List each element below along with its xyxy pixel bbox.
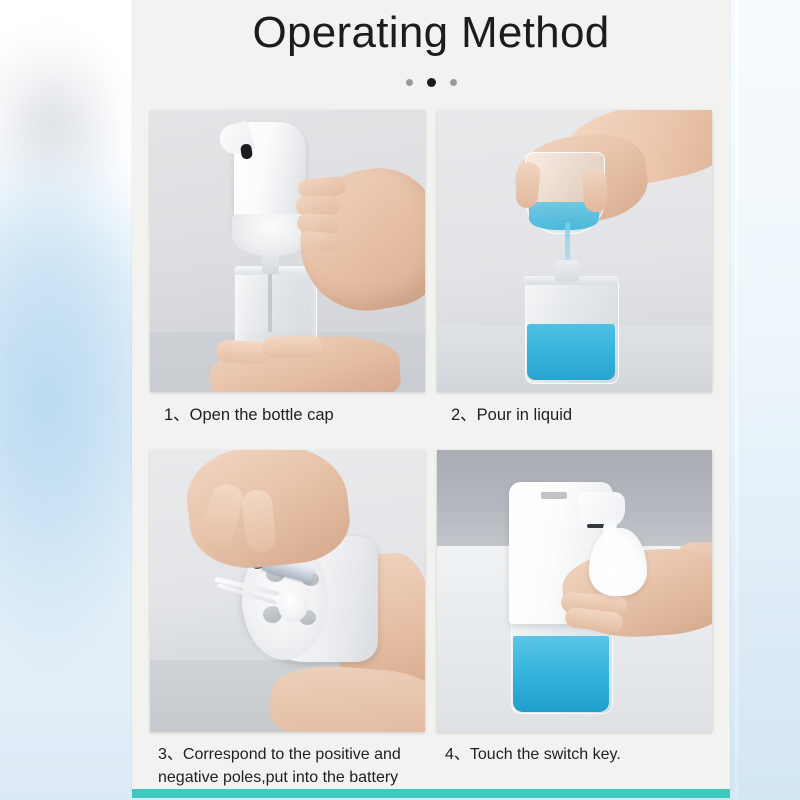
step-3-caption: 3、Correspond to the positive and negativ…	[150, 732, 425, 790]
step-4-photo	[437, 450, 712, 732]
photo-2-finger-2	[581, 167, 608, 213]
step-item-4: 4、Touch the switch key.	[437, 450, 712, 790]
photo-2-bottle-liquid	[527, 324, 615, 380]
content-card: Operating Method	[132, 0, 730, 789]
page-title: Operating Method	[132, 8, 730, 58]
step-2-caption: 2、Pour in liquid	[437, 392, 712, 450]
carousel-dot-2[interactable]	[427, 78, 436, 87]
step-1-photo	[150, 110, 425, 392]
carousel-dot-3[interactable]	[450, 79, 457, 86]
photo-3-supporting-hand	[268, 662, 425, 732]
photo-4-foam-tip	[603, 518, 617, 542]
photo-4-foam-blob	[589, 528, 647, 596]
step-item-1: 1、Open the bottle cap	[150, 110, 425, 450]
step-2-photo	[437, 110, 712, 392]
carousel-dots[interactable]	[132, 78, 730, 87]
photo-1-pump-tube	[268, 270, 272, 332]
photo-3-center-hub	[278, 588, 308, 622]
step-item-3: 3、Correspond to the positive and negativ…	[150, 450, 425, 790]
step-4-caption: 4、Touch the switch key.	[437, 732, 712, 790]
bottom-accent-bar	[132, 789, 730, 798]
photo-4-nozzle-head	[579, 492, 625, 528]
photo-1-sensor-window	[240, 143, 253, 159]
photo-4-brand-logo	[541, 492, 567, 499]
carousel-dot-1[interactable]	[406, 79, 413, 86]
step-3-photo	[150, 450, 425, 732]
photo-1-finger-2	[296, 195, 341, 216]
background-right-seam	[735, 0, 738, 800]
step-1-caption: 1、Open the bottle cap	[150, 392, 425, 450]
photo-4-blue-liquid	[513, 636, 609, 712]
photo-1-bottle-thread	[262, 252, 279, 274]
steps-grid: 1、Open the bottle cap	[150, 110, 712, 790]
photo-1-finger-3	[297, 213, 340, 233]
step-item-2: 2、Pour in liquid	[437, 110, 712, 450]
product-instruction-page: Operating Method	[0, 0, 800, 800]
photo-2-bottle-neck	[555, 260, 579, 282]
photo-2-pour-stream	[565, 222, 570, 264]
photo-1-bottom-finger-2	[262, 335, 323, 359]
